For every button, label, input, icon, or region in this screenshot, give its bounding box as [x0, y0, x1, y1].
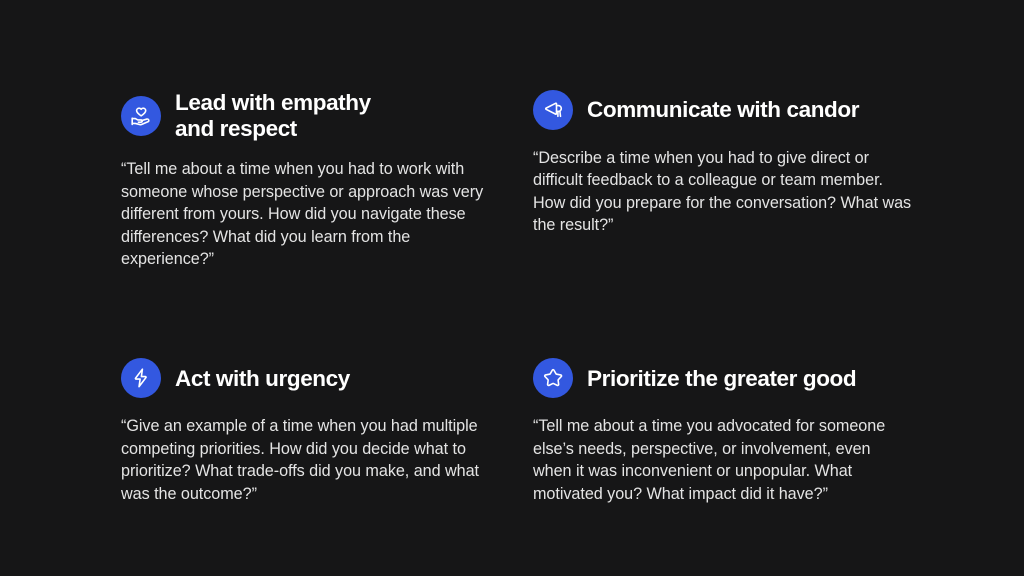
card-header: Act with urgency: [121, 358, 533, 398]
card-title: Lead with empathy and respect: [175, 90, 371, 141]
card-header: Lead with empathy and respect: [121, 90, 533, 141]
card-body-text: “Give an example of a time when you had …: [121, 415, 496, 505]
value-card-communicate-with-candor: Communicate with candor “Describe a time…: [533, 90, 945, 270]
card-body-text: “Describe a time when you had to give di…: [533, 147, 913, 237]
slide-root: Lead with empathy and respect “Tell me a…: [0, 0, 1024, 576]
hand-heart-icon: [121, 96, 161, 136]
lightning-bolt-icon: [121, 358, 161, 398]
card-header: Communicate with candor: [533, 90, 945, 130]
value-card-prioritize-the-greater-good: Prioritize the greater good “Tell me abo…: [533, 270, 945, 505]
card-title: Act with urgency: [175, 366, 350, 392]
value-card-lead-with-empathy: Lead with empathy and respect “Tell me a…: [121, 90, 533, 270]
card-header: Prioritize the greater good: [533, 358, 945, 398]
values-grid: Lead with empathy and respect “Tell me a…: [121, 90, 905, 505]
megaphone-icon: [533, 90, 573, 130]
card-body-text: “Tell me about a time you advocated for …: [533, 415, 913, 505]
card-title: Prioritize the greater good: [587, 366, 856, 392]
card-body-text: “Tell me about a time when you had to wo…: [121, 158, 496, 270]
card-title: Communicate with candor: [587, 97, 859, 123]
value-card-act-with-urgency: Act with urgency “Give an example of a t…: [121, 270, 533, 505]
star-icon: [533, 358, 573, 398]
